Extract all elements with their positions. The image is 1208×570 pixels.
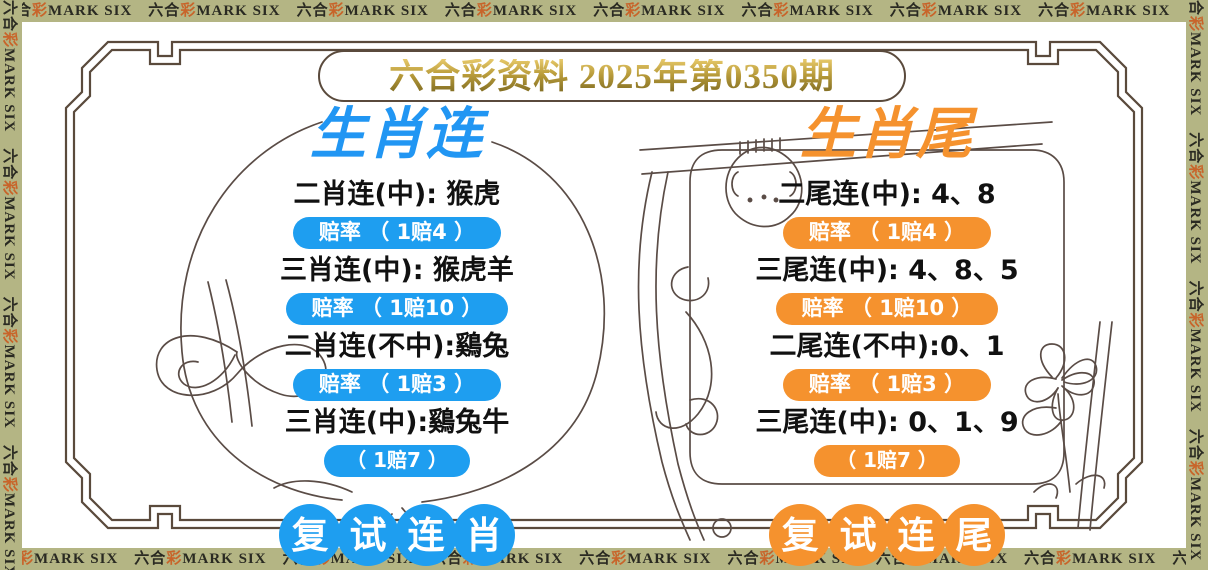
border-band-top: 六合彩MARK SIX六合彩MARK SIX六合彩MARK SIX六合彩MARK… [0,0,1208,22]
border-band-left-text: 六合彩MARK SIX六合彩MARK SIX六合彩MARK SIX六合彩MARK… [0,0,20,570]
badges-right: 复 试 连 尾 [672,504,1102,566]
badge-char: 尾 [943,504,1005,566]
odds-pill: 赔率 （ 1赔3 ） [293,369,501,401]
border-band-right-text: 六合彩MARK SIX六合彩MARK SIX六合彩MARK SIX六合彩MARK… [1186,0,1206,570]
page-title: 六合彩资料 2025年第0350期 [389,59,835,94]
odds-pill-wrap: 赔率 （ 1赔4 ） [182,217,612,249]
result-line: 三肖连(中): 猴虎羊 [182,252,612,290]
badge-char: 复 [769,504,831,566]
odds-pill: （ 1赔7 ） [814,445,960,477]
odds-pill: 赔率 （ 1赔4 ） [293,217,501,249]
odds-pill: （ 1赔7 ） [324,445,470,477]
badge-char: 连 [395,504,457,566]
result-line: 二肖连(不中):鷄兔 [182,328,612,366]
column-shengxiao-wei: 生肖尾 二尾连(中): 4、8 赔率 （ 1赔4 ） 三尾连(中): 4、8、5… [672,102,1102,562]
result-line: 二尾连(不中):0、1 [672,328,1102,366]
poster-canvas: 六合彩资料 2025年第0350期 生肖连 二肖连(中): 猴虎 赔率 （ 1赔… [22,22,1186,548]
odds-pill: 赔率 （ 1赔10 ） [286,293,509,325]
odds-pill: 赔率 （ 1赔10 ） [776,293,999,325]
badge-char: 试 [337,504,399,566]
odds-pill-wrap: 赔率 （ 1赔10 ） [182,293,612,325]
result-line: 三尾连(中): 4、8、5 [672,252,1102,290]
rows-left: 二肖连(中): 猴虎 赔率 （ 1赔4 ） 三肖连(中): 猴虎羊 赔率 （ 1… [182,174,612,480]
badges-left: 复 试 连 肖 [182,504,612,566]
border-band-top-text: 六合彩MARK SIX六合彩MARK SIX六合彩MARK SIX六合彩MARK… [0,0,1208,22]
odds-pill-wrap: （ 1赔7 ） [672,445,1102,477]
result-line: 三肖连(中):鷄兔牛 [182,404,612,442]
badge-char: 肖 [453,504,515,566]
column-heading-left: 生肖连 [182,102,612,174]
odds-pill-wrap: 赔率 （ 1赔4 ） [672,217,1102,249]
odds-pill: 赔率 （ 1赔4 ） [783,217,991,249]
poster-title-banner: 六合彩资料 2025年第0350期 [318,50,906,102]
result-line: 二肖连(中): 猴虎 [182,176,612,214]
badge-char: 连 [885,504,947,566]
border-band-left: 六合彩MARK SIX六合彩MARK SIX六合彩MARK SIX六合彩MARK… [0,0,22,570]
column-heading-right: 生肖尾 [672,102,1102,174]
badge-char: 试 [827,504,889,566]
odds-pill-wrap: 赔率 （ 1赔3 ） [182,369,612,401]
border-band-right: 六合彩MARK SIX六合彩MARK SIX六合彩MARK SIX六合彩MARK… [1186,0,1208,570]
rows-right: 二尾连(中): 4、8 赔率 （ 1赔4 ） 三尾连(中): 4、8、5 赔率 … [672,174,1102,480]
result-line: 二尾连(中): 4、8 [672,176,1102,214]
odds-pill-wrap: 赔率 （ 1赔3 ） [672,369,1102,401]
odds-pill: 赔率 （ 1赔3 ） [783,369,991,401]
column-shengxiao-lian: 生肖连 二肖连(中): 猴虎 赔率 （ 1赔4 ） 三肖连(中): 猴虎羊 赔率… [182,102,612,562]
badge-char: 复 [279,504,341,566]
odds-pill-wrap: 赔率 （ 1赔10 ） [672,293,1102,325]
odds-pill-wrap: （ 1赔7 ） [182,445,612,477]
poster-root: 六合彩MARK SIX六合彩MARK SIX六合彩MARK SIX六合彩MARK… [0,0,1208,570]
result-line: 三尾连(中): 0、1、9 [672,404,1102,442]
